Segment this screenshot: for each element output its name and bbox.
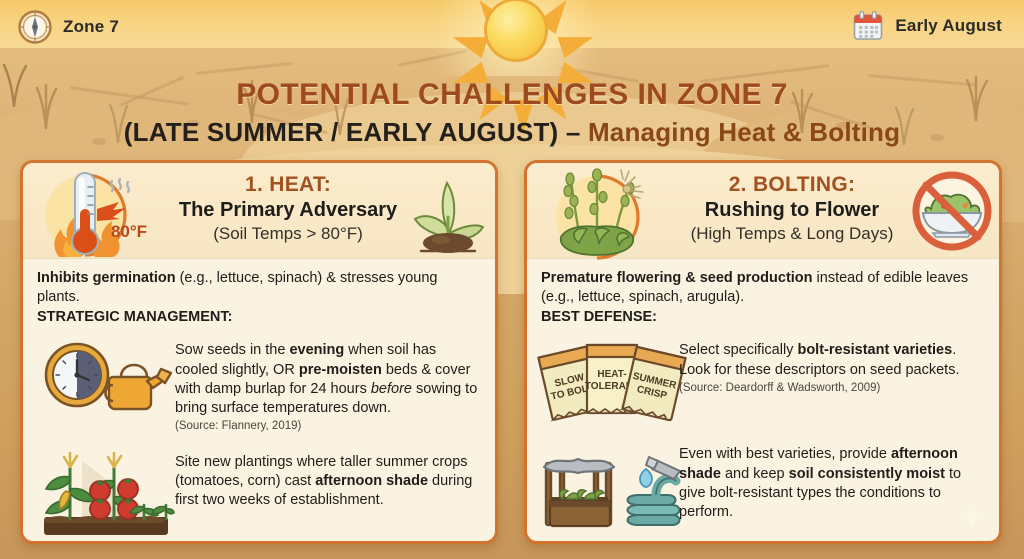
card-bolting-subtitle: Rushing to Flower <box>677 199 907 222</box>
card-heat-tip-2-text: Site new plantings where taller summer c… <box>175 451 481 511</box>
headline-line-2-dark: (LATE SUMMER / EARLY AUGUST) – <box>124 117 581 147</box>
card-heat-header: 80°F 1. HEAT: The Primary Adversary (Soi… <box>23 163 495 259</box>
card-heat-tip-1-text: Sow seeds in the evening when soil has c… <box>175 339 481 434</box>
card-bolting-caps-heading: BEST DEFENSE: <box>541 309 985 325</box>
clock-watering-can-icon <box>41 339 171 419</box>
seg: Sow seeds in the <box>175 342 289 358</box>
thermometer-value-label: 80°F <box>111 222 147 241</box>
card-bolting-body: Premature flowering & seed production in… <box>527 259 999 531</box>
card-heat-titles: 1. HEAT: The Primary Adversary (Soil Tem… <box>173 173 403 244</box>
card-bolting-lead: Premature flowering & seed production in… <box>541 269 985 307</box>
card-heat-tip-2: Site new plantings where taller summer c… <box>37 451 481 539</box>
thermometer-flame-icon: 80°F <box>33 165 167 259</box>
card-heat-number-title: 1. HEAT: <box>173 173 403 197</box>
zone-badge[interactable]: Zone 7 <box>18 10 119 44</box>
card-bolting-tip-2-icon-wrap <box>541 443 679 531</box>
top-bar: Zone 7 Early August <box>0 0 1024 52</box>
card-heat-parenthetical: (Soil Temps > 80°F) <box>173 224 403 244</box>
bolted-lettuce-icon <box>537 165 671 259</box>
card-bolting-tip-2: Even with best varieties, provide aftern… <box>541 443 985 531</box>
shade-cloth-hose-icon <box>536 443 684 531</box>
seg-bold: afternoon shade <box>315 473 428 489</box>
infographic-canvas: Zone 7 Early August POTENTIAL <box>0 0 1024 559</box>
card-heat-tip-1: Sow seeds in the evening when soil has c… <box>37 339 481 434</box>
card-bolting-header: 2. BOLTING: Rushing to Flower (High Temp… <box>527 163 999 259</box>
calendar-icon <box>852 10 884 42</box>
compass-icon <box>18 10 52 44</box>
card-bolting-tip-1-text: Select specifically bolt-resistant varie… <box>679 339 985 396</box>
svg-text:HEAT-: HEAT- <box>597 369 626 380</box>
card-heat-tip-1-source: (Source: Flannery, 2019) <box>175 419 481 434</box>
card-bolting-tip-1: SLOW TO BOLT HEAT- TOLERANT <box>541 339 985 421</box>
card-heat-tip-1-icon-wrap <box>37 339 175 419</box>
card-heat-subtitle: The Primary Adversary <box>173 199 403 222</box>
date-badge[interactable]: Early August <box>852 10 1002 42</box>
card-bolting-tip-2-text: Even with best varieties, provide aftern… <box>679 443 985 522</box>
no-salad-icon <box>909 169 995 253</box>
seg-italic: before <box>371 381 412 397</box>
headline: POTENTIAL CHALLENGES IN ZONE 7 (LATE SUM… <box>0 78 1024 148</box>
headline-line-1: POTENTIAL CHALLENGES IN ZONE 7 <box>0 78 1024 112</box>
card-heat-lead: Inhibits germination (e.g., lettuce, spi… <box>37 269 481 307</box>
card-bolting-parenthetical: (High Temps & Long Days) <box>677 224 907 244</box>
card-heat: 80°F 1. HEAT: The Primary Adversary (Soi… <box>20 160 498 544</box>
seg: Select specifically <box>679 342 797 358</box>
zone-badge-label: Zone 7 <box>63 17 119 37</box>
corn-tomato-shade-icon <box>40 451 172 539</box>
wilting-seedling-icon <box>405 169 491 253</box>
seed-packets-icon: SLOW TO BOLT HEAT- TOLERANT <box>535 339 685 421</box>
card-bolting-number-title: 2. BOLTING: <box>677 173 907 197</box>
seg-bold: bolt-resistant varieties <box>797 342 952 358</box>
card-heat-caps-heading: STRATEGIC MANAGEMENT: <box>37 309 481 325</box>
date-badge-label: Early August <box>895 16 1002 36</box>
card-bolting-tip-1-icon-wrap: SLOW TO BOLT HEAT- TOLERANT <box>541 339 679 421</box>
headline-line-2: (LATE SUMMER / EARLY AUGUST) – Managing … <box>0 117 1024 148</box>
seg-bold: pre-moisten <box>299 362 382 378</box>
card-bolting-tip-1-source: (Source: Deardorff & Wadsworth, 2009) <box>679 381 985 396</box>
card-heat-lead-bold: Inhibits germination <box>37 270 176 286</box>
seg: and keep <box>721 466 789 482</box>
seg: Even with best varieties, provide <box>679 446 891 462</box>
card-bolting-lead-bold: Premature flowering & seed production <box>541 270 813 286</box>
seg-bold: evening <box>289 342 344 358</box>
seg-bold: soil consistently moist <box>789 466 945 482</box>
card-bolting-titles: 2. BOLTING: Rushing to Flower (High Temp… <box>677 173 907 244</box>
headline-line-2-accent: Managing Heat & Bolting <box>588 117 900 147</box>
card-bolting: 2. BOLTING: Rushing to Flower (High Temp… <box>524 160 1002 544</box>
sparkle-icon <box>959 505 985 531</box>
card-heat-tip-2-icon-wrap <box>37 451 175 539</box>
card-heat-body: Inhibits germination (e.g., lettuce, spi… <box>23 259 495 539</box>
